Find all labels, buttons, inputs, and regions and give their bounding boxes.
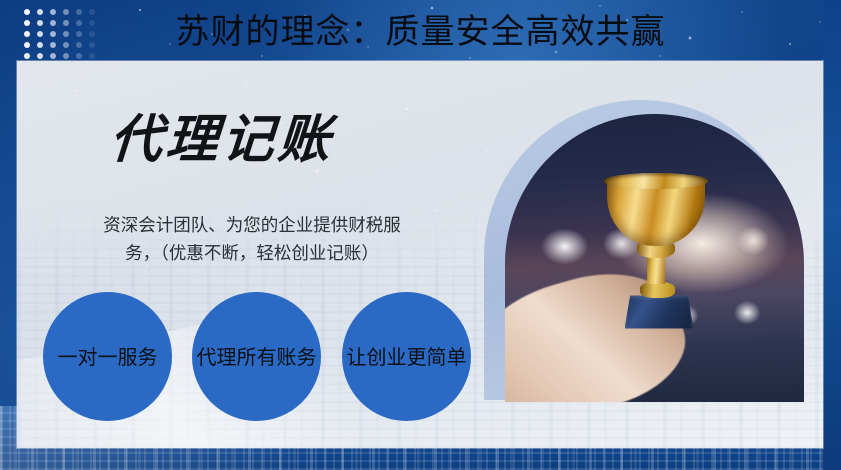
feature-bubble-1[interactable]: 一对一服务 bbox=[43, 292, 172, 421]
feature-bubbles: 一对一服务 代理所有账务 让创业更简单 bbox=[0, 0, 841, 470]
feature-bubble-2-label: 代理所有账务 bbox=[197, 347, 317, 367]
feature-bubble-2[interactable]: 代理所有账务 bbox=[192, 292, 321, 421]
feature-bubble-3-label: 让创业更简单 bbox=[347, 347, 467, 367]
slide-root: 苏财的理念：质量安全高效共赢 代理记账 资深会计团队、为您的企业提供财税服 务，… bbox=[0, 0, 841, 470]
feature-bubble-3[interactable]: 让创业更简单 bbox=[342, 292, 471, 421]
feature-bubble-1-label: 一对一服务 bbox=[58, 347, 158, 367]
